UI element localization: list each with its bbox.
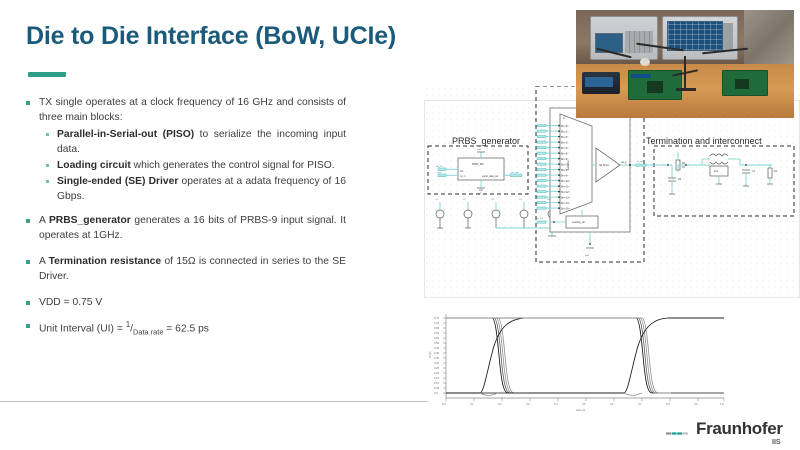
list-item: Parallel-in-Serial-out (PISO) to seriali… <box>46 128 346 158</box>
sub-bullet-marker-icon <box>46 180 49 183</box>
svg-text:V4: V4 <box>519 199 522 201</box>
svg-text:0.05: 0.05 <box>434 386 440 390</box>
bullet-text: TX single operates at a clock frequency … <box>39 96 346 126</box>
svg-text:vdd!: vdd! <box>477 149 482 151</box>
svg-text:Bin<1>: Bin<1> <box>561 131 569 134</box>
bullet-emphasis: Parallel-in-Serial-out (PISO) <box>57 129 194 140</box>
svg-text:ser_out: ser_out <box>511 171 519 174</box>
spectrum-analyzer-screen <box>667 21 723 51</box>
white-connector <box>640 58 650 66</box>
svg-text:0.5: 0.5 <box>582 402 586 406</box>
ui-prefix: Unit Interval (UI) = <box>39 323 126 334</box>
bullet-rest: which generates the control signal for P… <box>131 160 335 171</box>
waveform-svg: .ax{stroke:#8a8a8a;stroke-width:0.7;fill… <box>428 306 800 426</box>
schematic-label-tx: Tx <box>563 86 573 88</box>
svg-text:clk_1G: clk_1G <box>436 166 443 168</box>
lab-setup-photo <box>576 10 794 118</box>
svg-text:C1: C1 <box>752 170 756 173</box>
bullet-pre: A <box>39 256 49 267</box>
svg-text:Bin<7>: Bin<7> <box>561 164 569 167</box>
svg-text:gnd!: gnd! <box>585 255 590 257</box>
list-item: A Termination resistance of 15Ω is conne… <box>26 255 346 285</box>
svg-text:Bin<15>: Bin<15> <box>561 208 571 211</box>
fraunhofer-institute-label: IIS <box>772 439 781 446</box>
svg-text:clk_1G: clk_1G <box>536 218 543 220</box>
fraunhofer-logo: Fraunhofer IIS <box>664 418 800 450</box>
svg-text:Loading_ckt: Loading_ckt <box>572 221 585 224</box>
svg-text:Bin<5>: Bin<5> <box>561 153 569 156</box>
bullet-emphasis: Single-ended (SE) Driver <box>57 176 178 187</box>
svg-text:V (V): V (V) <box>428 352 432 358</box>
svg-text:Bin<9>: Bin<9> <box>561 175 569 178</box>
transient-waveform-plot: .ax{stroke:#8a8a8a;stroke-width:0.7;fill… <box>428 306 800 426</box>
svg-text:Bin<4>: Bin<4> <box>561 147 569 150</box>
svg-text:rst_n: rst_n <box>460 175 466 178</box>
svg-text:15: 15 <box>682 166 685 169</box>
pcb-connector <box>631 74 651 78</box>
spectrum-analyzer <box>662 16 738 60</box>
svg-text:tline: tline <box>714 170 719 173</box>
svg-text:0.4: 0.4 <box>554 402 558 406</box>
bullet-emphasis: PRBS_generator <box>49 215 131 226</box>
sub-bullet-marker-icon <box>46 164 49 167</box>
bullet-marker-icon <box>26 301 30 305</box>
signal-generator-keypad <box>625 31 653 53</box>
svg-text:0.0: 0.0 <box>442 402 446 406</box>
svg-text:0.20: 0.20 <box>434 371 440 375</box>
bullet-marker-icon <box>26 219 30 223</box>
fraunhofer-logo-mark-icon <box>666 430 692 437</box>
schematic-label-termination: Termination and interconnect <box>646 136 762 146</box>
bullet-text: Unit Interval (UI) = 1/Data rate = 62.5 … <box>39 319 346 338</box>
list-item: VDD = 0.75 V <box>26 296 346 311</box>
spacer <box>26 205 346 214</box>
bullet-text: Parallel-in-Serial-out (PISO) to seriali… <box>57 128 346 158</box>
black-box-label <box>585 77 613 87</box>
bullet-marker-icon <box>26 260 30 264</box>
svg-text:V3: V3 <box>491 199 494 201</box>
bullet-text: VDD = 0.75 V <box>39 296 346 311</box>
svg-text:0.6: 0.6 <box>610 402 614 406</box>
slide-root: Die to Die Interface (BoW, UCIe) TX sing… <box>0 0 800 450</box>
list-item: A PRBS_generator generates a 16 bits of … <box>26 214 346 244</box>
bullet-list: TX single operates at a clock frequency … <box>26 96 346 340</box>
svg-text:Bin<13>: Bin<13> <box>561 197 571 200</box>
list-item: Single-ended (SE) Driver operates at a a… <box>46 175 346 205</box>
svg-text:time (s): time (s) <box>576 408 585 412</box>
svg-text:0.55: 0.55 <box>434 336 440 340</box>
spacer <box>26 246 346 255</box>
black-instrument-box <box>582 72 620 94</box>
bullet-text: A Termination resistance of 15Ω is conne… <box>39 255 346 285</box>
svg-text:gnd!: gnd! <box>477 193 482 195</box>
svg-text:PRBS_9bit: PRBS_9bit <box>472 163 484 166</box>
pcb-chip <box>735 79 749 89</box>
svg-text:0.1: 0.1 <box>470 402 474 406</box>
svg-text:0.45: 0.45 <box>434 346 440 350</box>
svg-text:Bin<6>: Bin<6> <box>561 158 569 161</box>
svg-text:Bin<8>: Bin<8> <box>561 169 569 172</box>
svg-text:0.0: 0.0 <box>434 391 438 395</box>
spacer <box>26 287 346 296</box>
photo-stone-wall <box>744 10 794 68</box>
svg-text:C0: C0 <box>678 178 682 181</box>
svg-text:0.8: 0.8 <box>666 402 670 406</box>
svg-text:0.70: 0.70 <box>434 321 440 325</box>
svg-text:rst_n: rst_n <box>437 171 443 174</box>
pcb-chip <box>647 81 663 93</box>
list-item: Unit Interval (UI) = 1/Data rate = 62.5 … <box>26 319 346 338</box>
svg-text:0.30: 0.30 <box>434 361 440 365</box>
bullet-text: Single-ended (SE) Driver operates at a a… <box>57 175 346 205</box>
bullet-emphasis: Loading circuit <box>57 160 131 171</box>
svg-text:V1: V1 <box>435 199 438 201</box>
svg-text:0.9: 0.9 <box>694 402 698 406</box>
svg-text:Bin<10>: Bin<10> <box>561 180 571 183</box>
svg-text:Bin<2>: Bin<2> <box>561 136 569 139</box>
svg-text:Bin<3>: Bin<3> <box>561 142 569 145</box>
sub-bullet-marker-icon <box>46 133 49 136</box>
svg-text:SE Driver: SE Driver <box>599 164 609 167</box>
svg-text:1.0: 1.0 <box>720 402 724 406</box>
pcb-board-right <box>722 70 768 96</box>
svg-text:serial_data_out: serial_data_out <box>482 175 499 178</box>
fraunhofer-wordmark: Fraunhofer <box>696 419 783 439</box>
spectrum-analyzer-keypad <box>723 23 733 51</box>
svg-text:0.3: 0.3 <box>526 402 530 406</box>
svg-text:V2: V2 <box>463 199 466 201</box>
bullet-pre: A <box>39 215 49 226</box>
ui-suffix: = 62.5 ps <box>163 323 209 334</box>
svg-text:0.10: 0.10 <box>434 381 440 385</box>
bullet-marker-icon <box>26 324 30 328</box>
svg-text:Bin<14>: Bin<14> <box>561 202 571 205</box>
ui-numerator: 1 <box>126 320 130 329</box>
signal-generator <box>590 16 658 60</box>
svg-text:0.50: 0.50 <box>434 341 440 345</box>
bullet-marker-icon <box>26 101 30 105</box>
svg-text:R1: R1 <box>774 170 778 173</box>
probe-base <box>676 88 696 91</box>
svg-text:0.15: 0.15 <box>434 376 440 380</box>
list-item: TX single operates at a clock frequency … <box>26 96 346 126</box>
ui-denominator: Data rate <box>133 328 163 337</box>
bullet-text: Loading circuit which generates the cont… <box>57 159 346 174</box>
svg-text:Bin<0>: Bin<0> <box>561 125 569 128</box>
svg-text:0.75: 0.75 <box>434 316 440 320</box>
sub-bullet-list: Parallel-in-Serial-out (PISO) to seriali… <box>46 128 346 205</box>
footer-divider <box>0 401 432 402</box>
svg-text:0.2: 0.2 <box>498 402 502 406</box>
bullet-text: A PRBS_generator generates a 16 bits of … <box>39 214 346 244</box>
svg-text:out_p: out_p <box>621 161 628 164</box>
page-title: Die to Die Interface (BoW, UCIe) <box>26 22 396 51</box>
bullet-emphasis: Termination resistance <box>49 256 161 267</box>
title-accent-rule <box>28 72 66 77</box>
svg-text:0.60: 0.60 <box>434 331 440 335</box>
svg-text:Bin<12>: Bin<12> <box>561 191 571 194</box>
svg-text:Bin<11>: Bin<11> <box>561 186 570 189</box>
svg-text:0.65: 0.65 <box>434 326 440 330</box>
svg-text:0.40: 0.40 <box>434 351 440 355</box>
svg-text:0.35: 0.35 <box>434 356 440 360</box>
svg-text:0.7: 0.7 <box>638 402 642 406</box>
svg-text:tx_out: tx_out <box>637 160 643 163</box>
list-item: Loading circuit which generates the cont… <box>46 159 346 174</box>
schematic-label-prbs-generator: PRBS_generator <box>452 136 520 146</box>
svg-text:0.25: 0.25 <box>434 366 440 370</box>
